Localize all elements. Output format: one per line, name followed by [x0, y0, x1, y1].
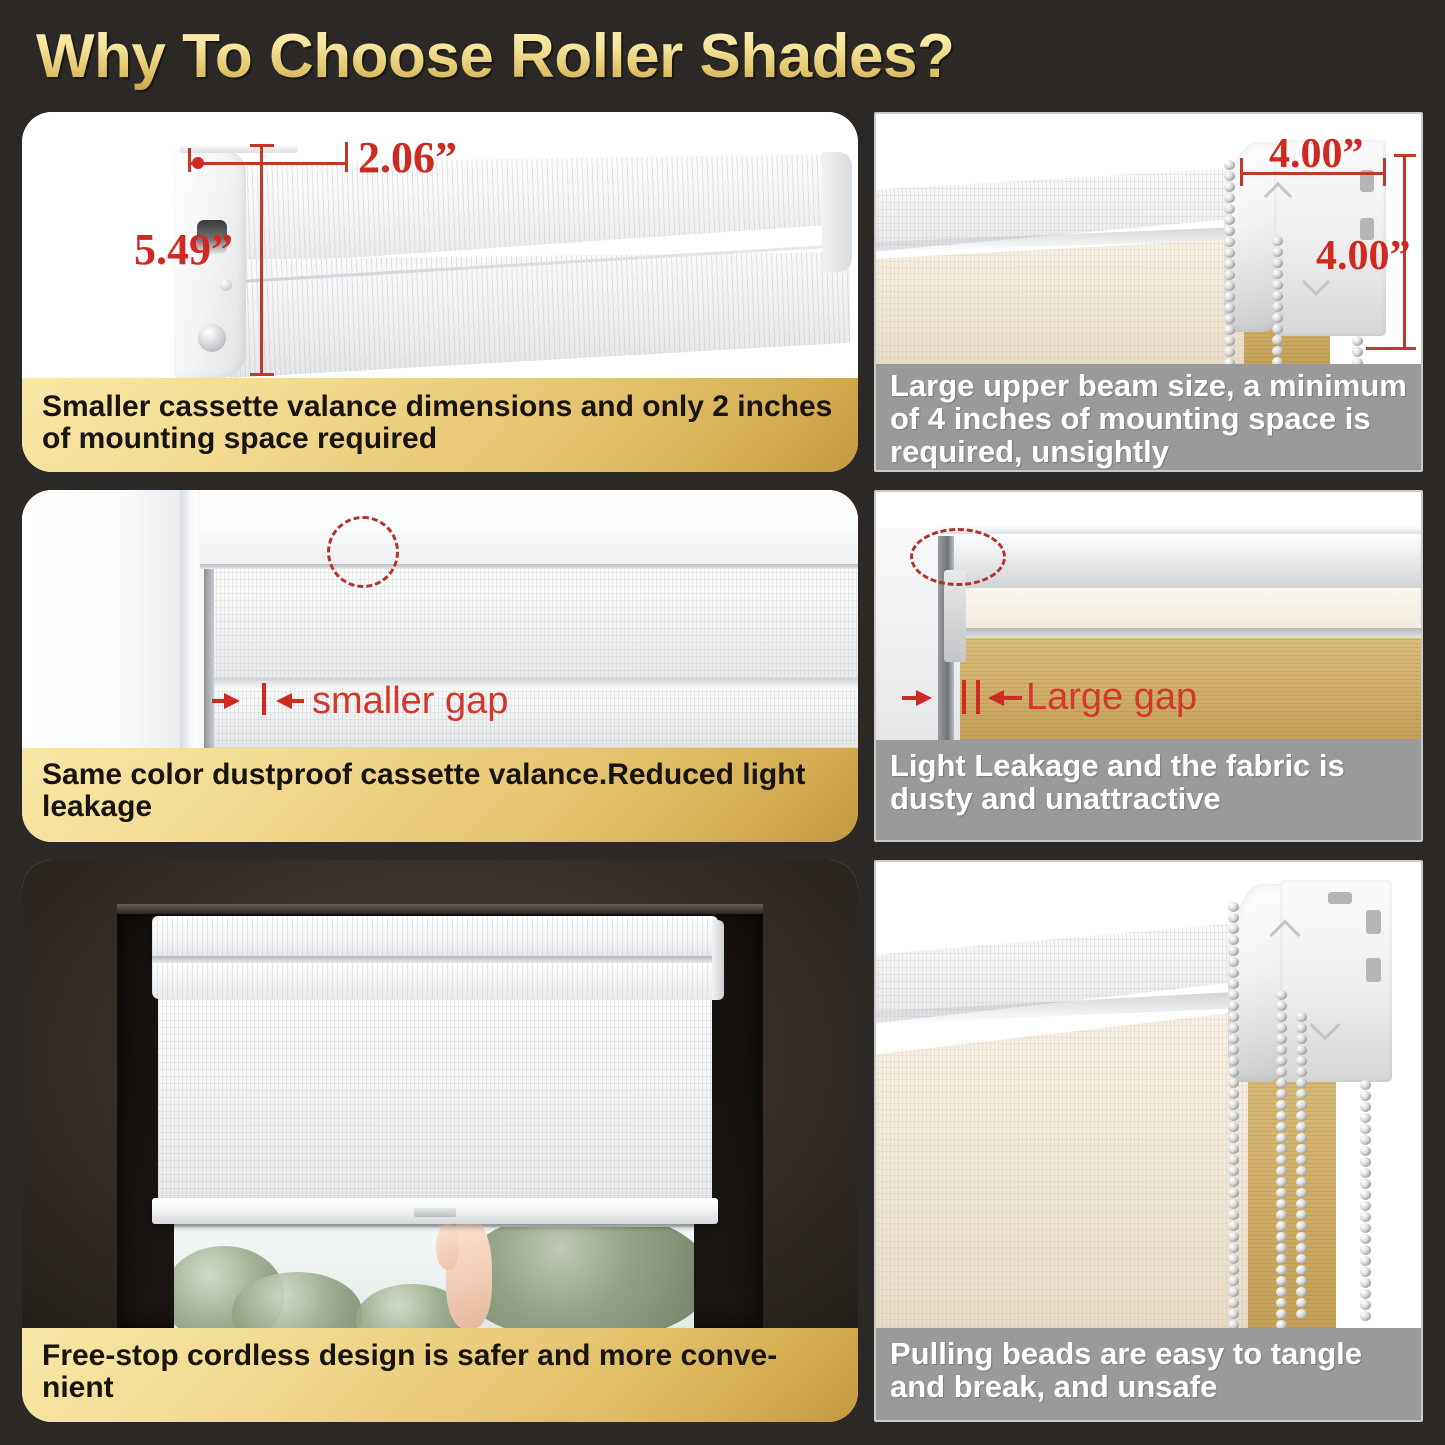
panel-5-image — [22, 860, 858, 1328]
dim-height-tick-top — [250, 144, 274, 147]
bead-chain-left — [1224, 160, 1235, 368]
panel-5-caption: Free-stop cordless design is safer and m… — [22, 1328, 858, 1422]
dim-beam-width-tick-left — [1240, 158, 1243, 186]
dim-width-line — [188, 162, 348, 165]
side-rail — [204, 569, 214, 748]
bead-chain-right — [1360, 1080, 1371, 1332]
dim-beam-height-tick-top — [1394, 154, 1416, 157]
cassette-valance-face — [208, 569, 858, 685]
gap-arrow-left-stem — [212, 699, 226, 703]
window-glass-view — [174, 1222, 694, 1328]
dim-width-tick-right — [345, 142, 348, 172]
bead-chain-mid-2 — [1296, 1012, 1307, 1332]
panel-2-caption-text: Large upper beam size, a minimum of 4 in… — [890, 370, 1407, 469]
valance-top-strip — [180, 144, 298, 153]
gap-arrow-left-stem — [902, 696, 918, 700]
bead-chain-mid — [1272, 236, 1283, 368]
mount-slot-mid — [1366, 958, 1381, 982]
window-casing-left — [22, 490, 188, 748]
valance-bottom-lip — [208, 678, 858, 690]
dim-width-label: 2.06” — [358, 132, 457, 183]
shade-fabric-below — [214, 690, 858, 748]
panel-3-image: smaller gap — [22, 490, 858, 748]
shade-pull-tab — [414, 1208, 456, 1217]
panel-3-caption: Same color dustproof cassette valance.Re… — [22, 748, 858, 842]
panel-cassette-dimensions: 2.06” 5.49” Smaller cassette valance dim… — [22, 112, 858, 472]
dim-beam-height-tick-bottom — [1366, 347, 1416, 350]
shade-valance-lower — [152, 963, 718, 999]
large-gap-label: Large gap — [1026, 676, 1197, 719]
panel-large-beam: 4.00” 4.00” Large upper beam size, a min… — [874, 112, 1423, 472]
valance-right-edge — [822, 152, 852, 272]
panel-1-image: 2.06” 5.49” — [22, 112, 858, 378]
tree-right-cluster — [460, 1222, 694, 1328]
shade-headrail — [152, 916, 718, 960]
highlight-dashed-circle — [910, 528, 1006, 586]
panel-1-caption: Smaller cassette valance dimensions and … — [22, 378, 858, 472]
smaller-gap-label: smaller gap — [312, 680, 508, 723]
headrail-edge — [938, 526, 1421, 534]
panel-2-caption: Large upper beam size, a minimum of 4 in… — [876, 364, 1421, 470]
page-title: Why To Choose Roller Shades? — [36, 22, 1136, 92]
valance-lower-face — [230, 252, 850, 378]
dim-beam-width-label: 4.00” — [1269, 130, 1364, 178]
dim-width-dot — [192, 157, 204, 169]
dim-height-label: 5.49” — [134, 224, 233, 275]
ceiling-band — [876, 492, 1421, 528]
gap-arrow-right-stem — [1004, 696, 1022, 700]
hand-thumb — [436, 1224, 458, 1270]
dim-beam-width-tick-right — [1383, 158, 1386, 186]
mount-notch — [1328, 892, 1352, 904]
gap-arrow-left — [224, 693, 240, 709]
shade-end-tab — [712, 920, 724, 1000]
panel-6-caption-text: Pulling beads are easy to tangle and bre… — [890, 1338, 1407, 1404]
dim-height-line — [260, 144, 263, 376]
panel-1-caption-text: Smaller cassette valance dimensions and … — [42, 391, 838, 455]
panel-5-caption-text: Free-stop cordless design is safer and m… — [42, 1340, 838, 1404]
cream-band — [954, 588, 1421, 632]
bracket-lower-knob — [198, 324, 226, 352]
cream-band-shadow — [954, 628, 1421, 638]
window-recess-top-trim — [117, 904, 763, 914]
shade-fabric-cream — [876, 238, 1252, 368]
panel-smaller-gap: smaller gap Same color dustproof cassett… — [22, 490, 858, 842]
window-header-trim — [200, 490, 858, 568]
shade-fabric-cream — [876, 1010, 1256, 1332]
shade-fabric-panel — [158, 999, 712, 1217]
gap-arrow-right-stem — [290, 699, 304, 703]
dim-height-tick-bottom — [250, 373, 274, 376]
gap-marker-bar-a — [962, 680, 966, 714]
panel-6-image — [876, 862, 1421, 1332]
highlight-dashed-circle — [327, 516, 399, 588]
panel-large-gap: Large gap Light Leakage and the fabric i… — [874, 490, 1423, 842]
headrail-tube — [938, 530, 1421, 590]
bead-chain-left — [1228, 902, 1239, 1332]
bracket-screw-upper — [220, 279, 232, 291]
panel-2-image: 4.00” 4.00” — [876, 114, 1421, 368]
panel-4-image: Large gap — [876, 492, 1421, 744]
dim-width-tick-left — [188, 148, 191, 172]
gap-marker-bar — [262, 683, 266, 715]
gap-arrow-left — [916, 690, 932, 706]
gap-marker-bar-b — [976, 680, 980, 714]
dim-beam-height-label: 4.00” — [1316, 232, 1411, 280]
panel-4-caption: Light Leakage and the fabric is dusty an… — [876, 740, 1421, 840]
panel-cordless-design: Free-stop cordless design is safer and m… — [22, 860, 858, 1422]
panel-6-caption: Pulling beads are easy to tangle and bre… — [876, 1328, 1421, 1420]
bead-chain-mid — [1276, 990, 1287, 1332]
mount-slot-top — [1366, 910, 1381, 934]
gap-arrow-right — [988, 690, 1004, 706]
panel-4-caption-text: Light Leakage and the fabric is dusty an… — [890, 750, 1407, 816]
page-header: Why To Choose Roller Shades? — [36, 22, 1136, 92]
panel-3-caption-text: Same color dustproof cassette valance.Re… — [42, 759, 838, 823]
panel-pulling-beads: Pulling beads are easy to tangle and bre… — [874, 860, 1423, 1422]
